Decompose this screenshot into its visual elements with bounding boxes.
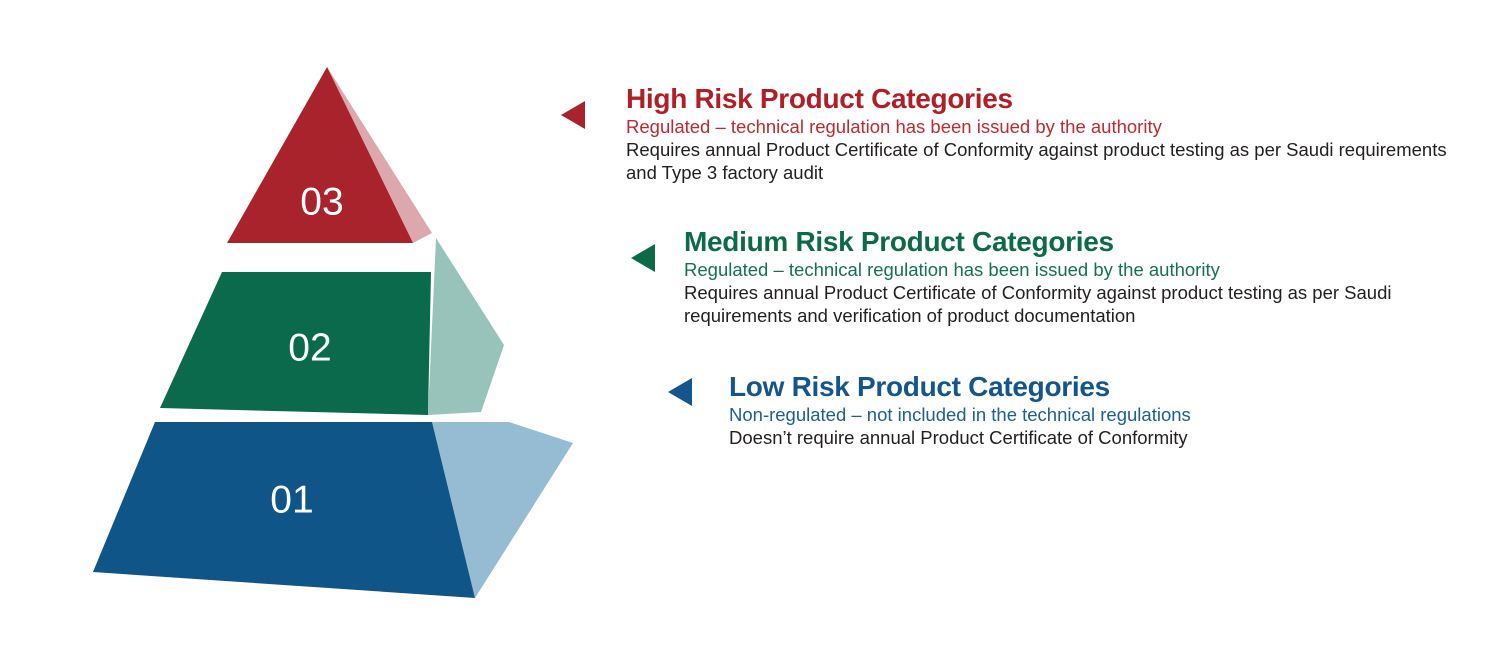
pyramid-diagram: 03 02 01 [60,40,600,620]
low-risk-heading: Low Risk Product Categories [729,371,1489,403]
pyramid-tier-medium-number: 02 [288,326,331,369]
high-risk-subtitle: Regulated – technical regulation has bee… [626,116,1456,138]
medium-risk-body: Requires annual Product Certificate of C… [684,282,1474,327]
high-risk-arrow-icon [561,101,585,129]
pyramid-tier-medium[interactable]: 02 [160,238,504,415]
high-risk-body: Requires annual Product Certificate of C… [626,139,1456,184]
medium-risk-heading: Medium Risk Product Categories [684,226,1474,258]
risk-pyramid-infographic: 03 02 01 High Risk Product Categories Re… [0,0,1504,654]
pyramid-tier-low-number: 01 [270,478,313,521]
pyramid-tier-medium-side-face [428,238,504,415]
low-risk-text-block: Low Risk Product Categories Non-regulate… [729,371,1489,450]
low-risk-arrow-icon [668,378,692,406]
pyramid-tier-high-number: 03 [300,180,343,223]
pyramid-tier-low[interactable]: 01 [93,422,573,598]
high-risk-heading: High Risk Product Categories [626,83,1456,115]
medium-risk-text-block: Medium Risk Product Categories Regulated… [684,226,1474,327]
low-risk-body: Doesn’t require annual Product Certifica… [729,427,1489,450]
pyramid-tier-high[interactable]: 03 [227,67,432,243]
high-risk-text-block: High Risk Product Categories Regulated –… [626,83,1456,184]
medium-risk-subtitle: Regulated – technical regulation has bee… [684,259,1474,281]
medium-risk-arrow-icon [631,244,655,272]
low-risk-subtitle: Non-regulated – not included in the tech… [729,404,1489,426]
